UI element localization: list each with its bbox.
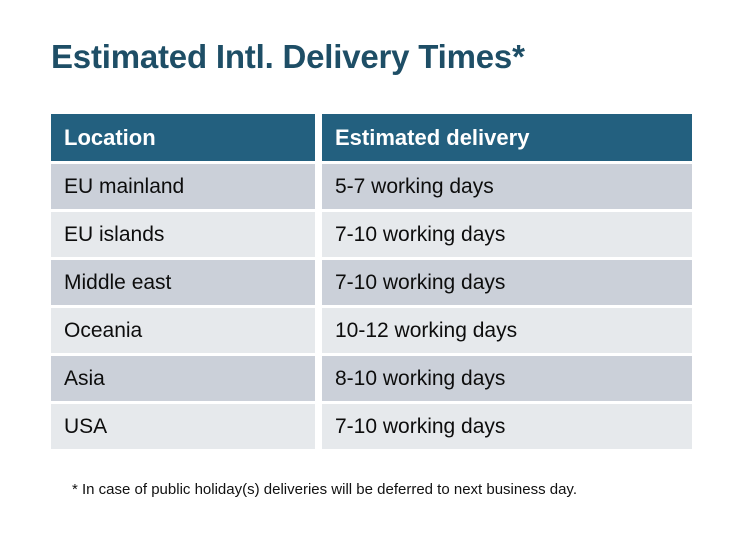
column-divider [315,164,322,209]
column-divider [315,404,322,449]
column-header-estimated-delivery: Estimated delivery [322,114,692,161]
cell-delivery: 7-10 working days [322,260,692,305]
table-row: Oceania 10-12 working days [51,308,692,353]
cell-location: Oceania [51,308,315,353]
column-divider [315,260,322,305]
cell-delivery: 5-7 working days [322,164,692,209]
column-divider [315,356,322,401]
column-divider [315,308,322,353]
table-row: EU mainland 5-7 working days [51,164,692,209]
cell-location: Asia [51,356,315,401]
table-row: EU islands 7-10 working days [51,212,692,257]
table-header-row: Location Estimated delivery [51,114,692,161]
estimated-delivery-table: Location Estimated delivery EU mainland … [51,114,692,452]
cell-location: USA [51,404,315,449]
table-row: Middle east 7-10 working days [51,260,692,305]
cell-delivery: 8-10 working days [322,356,692,401]
cell-location: EU mainland [51,164,315,209]
delivery-times-page: Estimated Intl. Delivery Times* Location… [0,0,745,536]
column-divider [315,212,322,257]
table-row: USA 7-10 working days [51,404,692,449]
column-header-location: Location [51,114,315,161]
cell-location: EU islands [51,212,315,257]
table-row: Asia 8-10 working days [51,356,692,401]
cell-delivery: 7-10 working days [322,404,692,449]
cell-location: Middle east [51,260,315,305]
cell-delivery: 10-12 working days [322,308,692,353]
cell-delivery: 7-10 working days [322,212,692,257]
footnote-text: * In case of public holiday(s) deliverie… [72,481,577,498]
column-divider [315,114,322,161]
page-title: Estimated Intl. Delivery Times* [51,37,525,77]
